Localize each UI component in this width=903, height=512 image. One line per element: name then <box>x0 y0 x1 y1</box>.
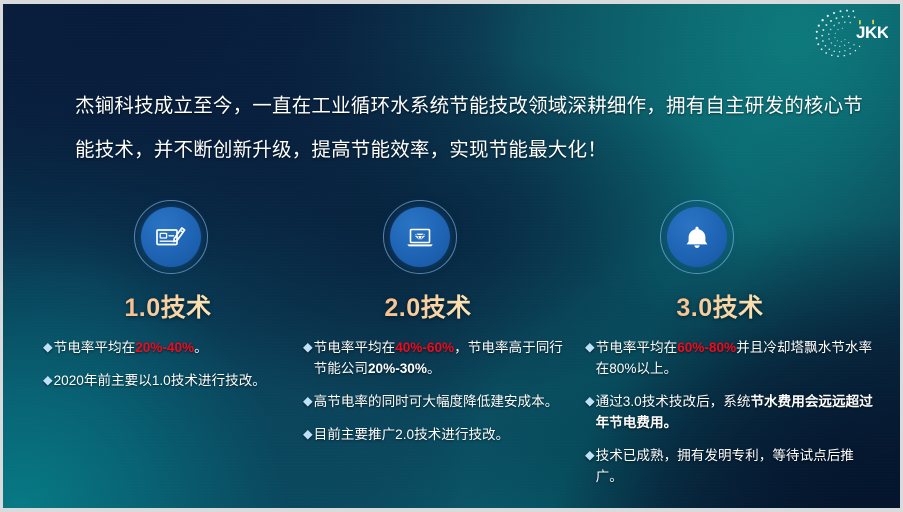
emphasis-text: 20%-30% <box>368 361 427 376</box>
bullet-diamond-icon: ◆ <box>303 391 313 412</box>
bullet-item: ◆高节电率的同时可大幅度降低建安成本。 <box>303 391 565 412</box>
tech-1-title: 1.0技术 <box>43 288 293 324</box>
intro-line-2: 能技术，并不断创新升级，提高节能效率，实现节能最大化！ <box>75 128 855 172</box>
laptop-diamond-icon <box>403 221 437 253</box>
intro-paragraph: 杰锏科技成立至今，一直在工业循环水系统节能技改领域深耕细作，拥有自主研发的核心节… <box>75 84 855 172</box>
bullet-diamond-icon: ◆ <box>303 337 313 358</box>
bullet-text: 通过3.0技术技改后，系统节水费用会远远超过年节电费用。 <box>596 391 873 433</box>
bullet-text: 目前主要推广2.0技术进行技改。 <box>314 424 565 445</box>
tech-2-title: 2.0技术 <box>291 288 565 324</box>
intro-line-1: 杰锏科技成立至今，一直在工业循环水系统节能技改领域深耕细作，拥有自主研发的核心节 <box>75 84 855 128</box>
tech-column-1: 1.0技术 ◆节电率平均在20%-40%。◆2020年前主要以1.0技术进行技改… <box>43 200 293 403</box>
bullet-text: 2020年前主要以1.0技术进行技改。 <box>54 370 293 391</box>
highlight-value: 60%-80% <box>677 340 736 355</box>
document-pen-icon <box>154 221 188 253</box>
plain-text: 技术已成熟，拥有发明专利，等待试点后推广。 <box>596 448 854 484</box>
bullet-item: ◆节电率平均在40%-60%，节电率高于同行节能公司20%-30%。 <box>303 337 565 379</box>
highlight-value: 20%-40% <box>135 340 194 355</box>
icon-disc <box>141 207 201 267</box>
bullet-diamond-icon: ◆ <box>303 424 313 445</box>
tech-3-icon-badge <box>660 200 734 274</box>
tech-3-bullet-list: ◆节电率平均在60%-80%并且冷却塔飘水节水率在80%以上。◆通过3.0技术技… <box>585 337 873 487</box>
icon-disc <box>390 207 450 267</box>
plain-text: 。 <box>427 361 441 376</box>
bullet-item: ◆2020年前主要以1.0技术进行技改。 <box>43 370 293 391</box>
tech-3-title: 3.0技术 <box>567 288 873 324</box>
company-logo: JKKJ <box>812 7 888 59</box>
bullet-item: ◆技术已成熟，拥有发明专利，等待试点后推广。 <box>585 445 873 487</box>
tech-2-bullet-list: ◆节电率平均在40%-60%，节电率高于同行节能公司20%-30%。◆高节电率的… <box>303 337 565 445</box>
dotted-swirl-logo-icon: JKKJ <box>812 7 888 59</box>
plain-text: 2020年前主要以1.0技术进行技改。 <box>54 373 266 388</box>
bullet-text: 节电率平均在60%-80%并且冷却塔飘水节水率在80%以上。 <box>596 337 873 379</box>
tech-1-bullet-list: ◆节电率平均在20%-40%。◆2020年前主要以1.0技术进行技改。 <box>43 337 293 391</box>
bullet-item: ◆节电率平均在20%-40%。 <box>43 337 293 358</box>
bullet-diamond-icon: ◆ <box>43 337 53 358</box>
plain-text: 目前主要推广2.0技术进行技改。 <box>314 427 510 442</box>
bullet-item: ◆节电率平均在60%-80%并且冷却塔飘水节水率在80%以上。 <box>585 337 873 379</box>
plain-text: 通过3.0技术技改后，系统 <box>596 394 751 409</box>
tech-1-icon-badge <box>134 200 208 274</box>
bullet-diamond-icon: ◆ <box>585 445 595 466</box>
bullet-text: 节电率平均在40%-60%，节电率高于同行节能公司20%-30%。 <box>314 337 565 379</box>
plain-text: 节电率平均在 <box>596 340 678 355</box>
bullet-text: 节电率平均在20%-40%。 <box>54 337 293 358</box>
tech-2-icon-badge <box>383 200 457 274</box>
plain-text: 节电率平均在 <box>314 340 396 355</box>
bullet-diamond-icon: ◆ <box>43 370 53 391</box>
highlight-value: 40%-60% <box>395 340 454 355</box>
bullet-item: ◆目前主要推广2.0技术进行技改。 <box>303 424 565 445</box>
bullet-text: 高节电率的同时可大幅度降低建安成本。 <box>314 391 565 412</box>
bell-icon <box>680 221 714 253</box>
plain-text: 节电率平均在 <box>54 340 136 355</box>
tech-column-3: 3.0技术 ◆节电率平均在60%-80%并且冷却塔飘水节水率在80%以上。◆通过… <box>585 200 873 499</box>
bullet-text: 技术已成熟，拥有发明专利，等待试点后推广。 <box>596 445 873 487</box>
bullet-diamond-icon: ◆ <box>585 337 595 358</box>
plain-text: 高节电率的同时可大幅度降低建安成本。 <box>314 394 559 409</box>
presentation-slide: JKKJ 杰锏科技成立至今，一直在工业循环水系统节能技改领域深耕细作，拥有自主研… <box>3 4 900 508</box>
tech-column-2: 2.0技术 ◆节电率平均在40%-60%，节电率高于同行节能公司20%-30%。… <box>303 200 565 457</box>
icon-disc <box>667 207 727 267</box>
bullet-diamond-icon: ◆ <box>585 391 595 412</box>
plain-text: 。 <box>194 340 208 355</box>
logo-wordmark: JKKJ <box>856 23 888 42</box>
bullet-item: ◆通过3.0技术技改后，系统节水费用会远远超过年节电费用。 <box>585 391 873 433</box>
